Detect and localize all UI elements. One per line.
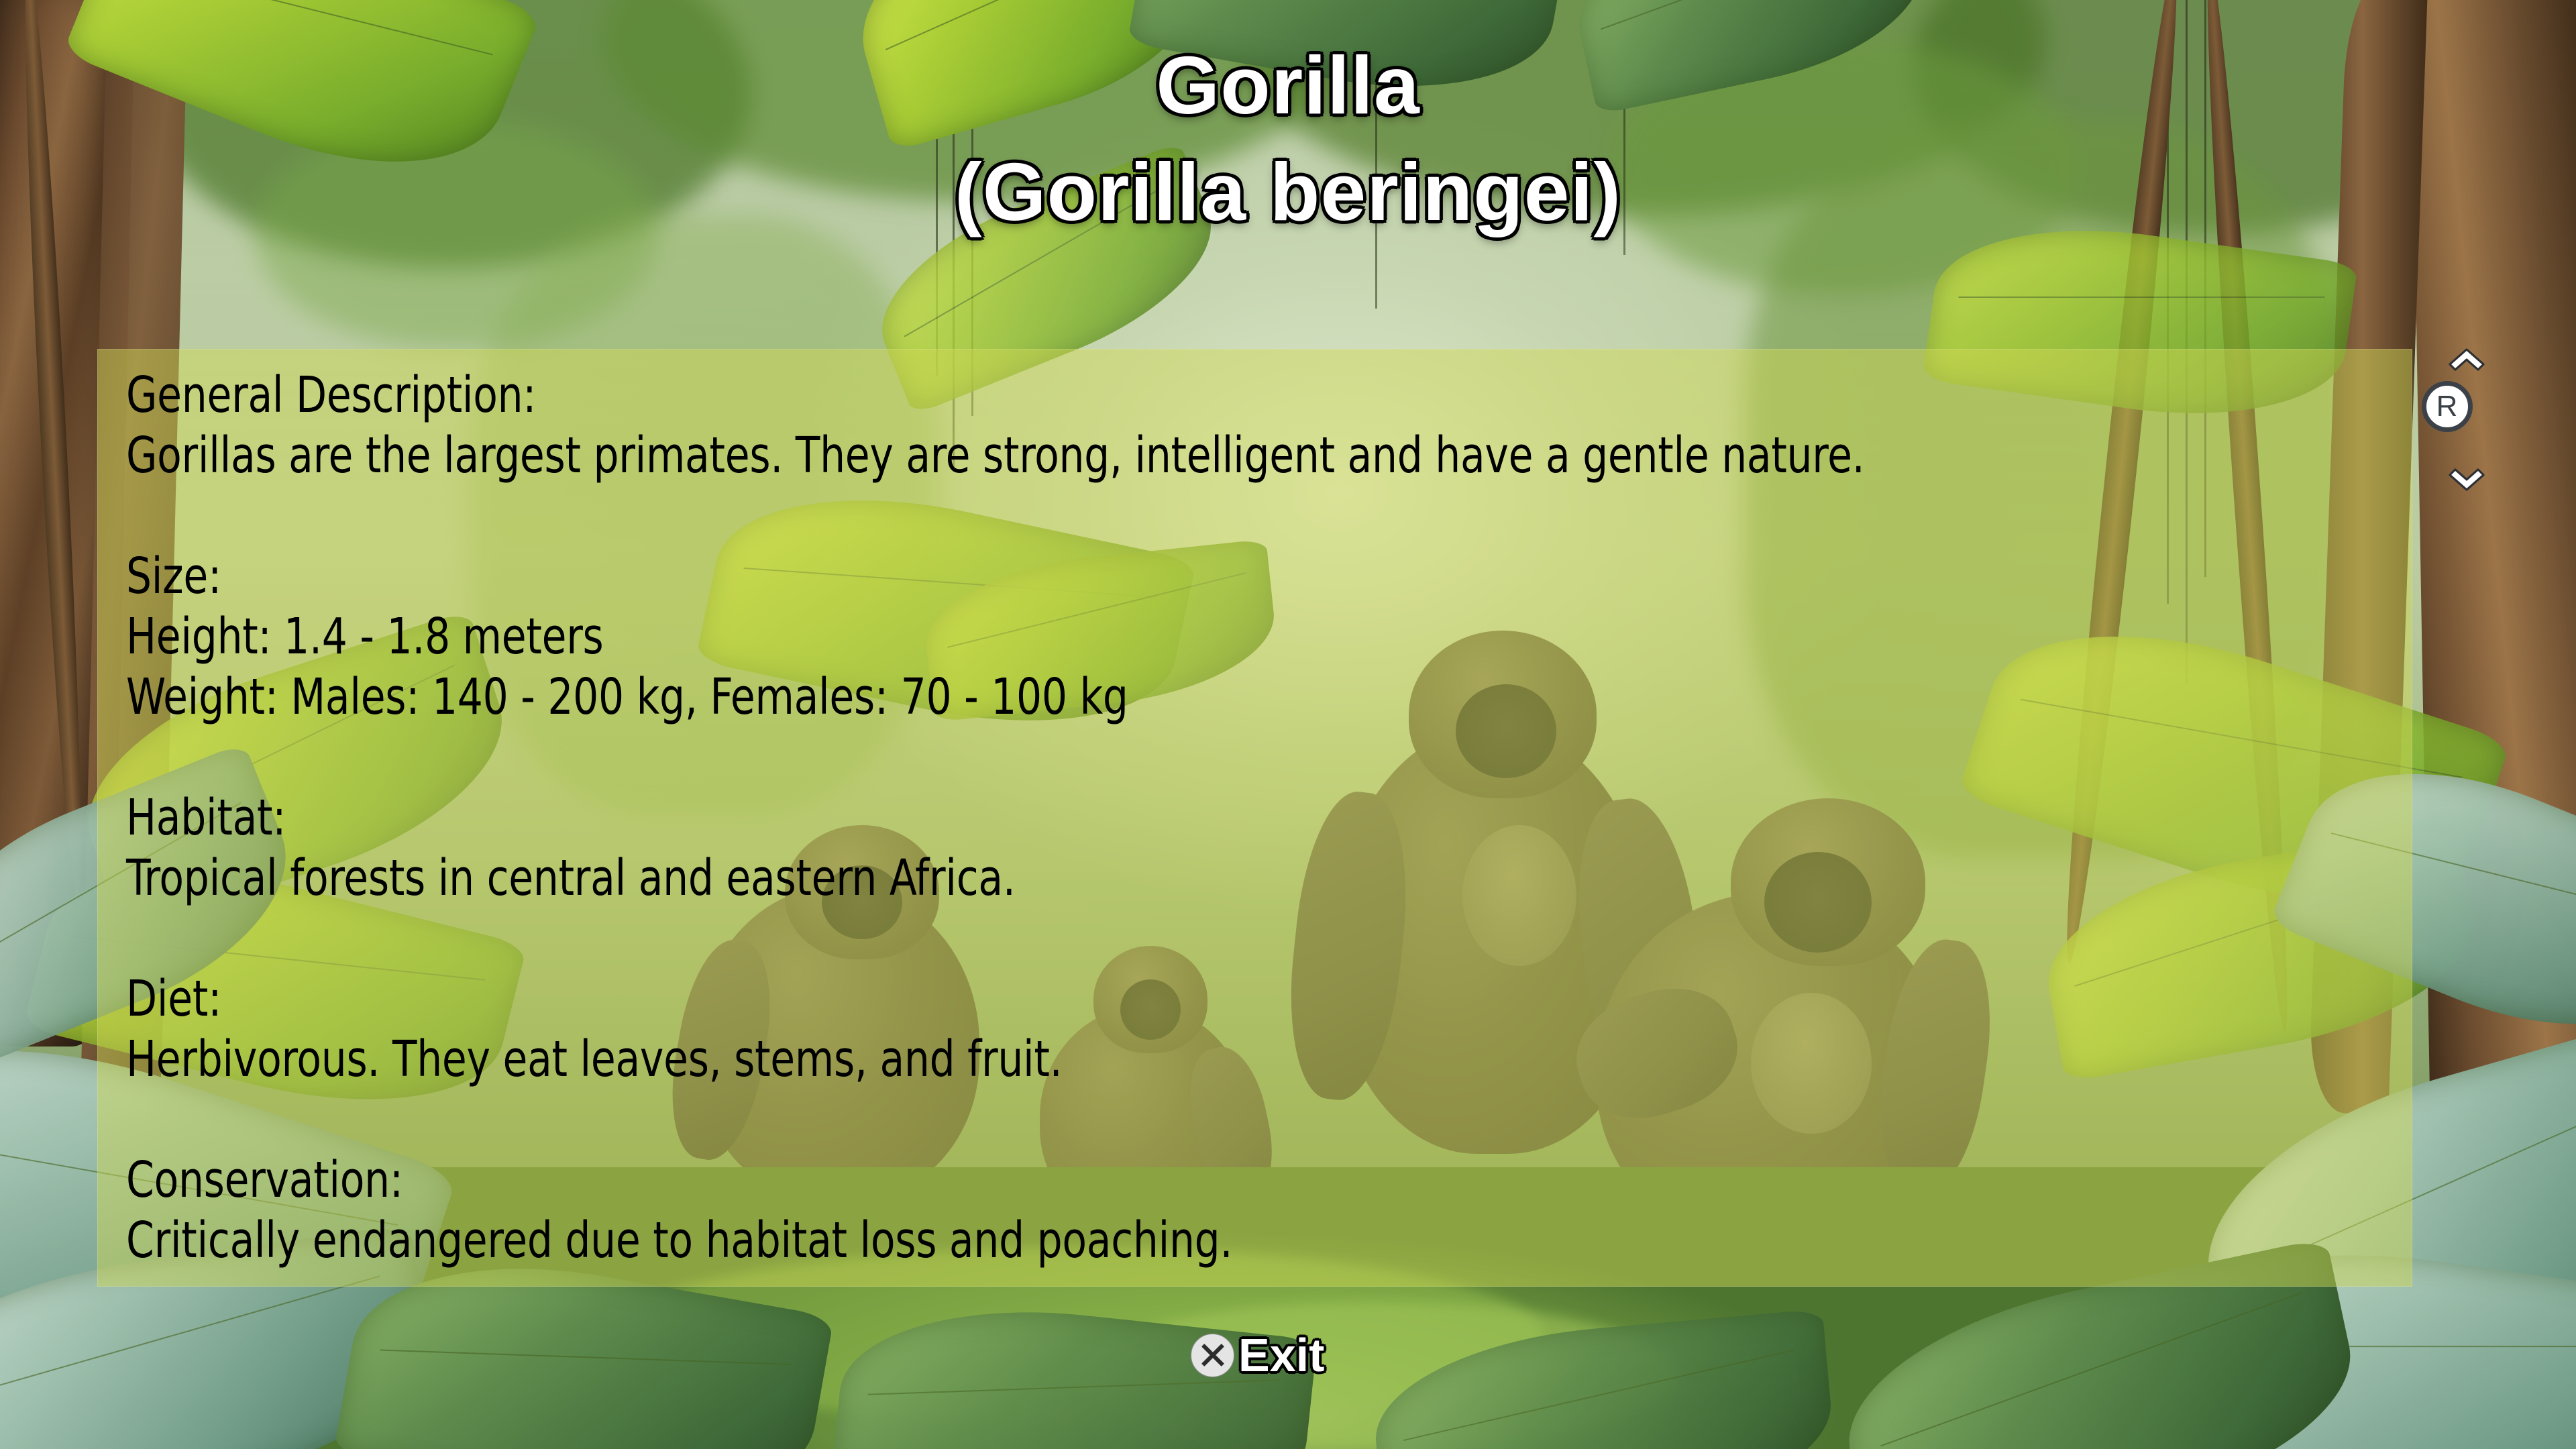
- scroll-knob-button[interactable]: R: [2422, 381, 2473, 432]
- scroll-knob-label: R: [2436, 392, 2458, 421]
- exit-button[interactable]: Exit: [1191, 1332, 1324, 1379]
- close-x-icon[interactable]: [1191, 1334, 1234, 1377]
- scroll-control[interactable]: R: [2418, 344, 2475, 468]
- info-panel-body-text: General Description: Gorillas are the la…: [126, 365, 2171, 1271]
- exit-button-label: Exit: [1238, 1332, 1324, 1379]
- app-screen: Gorilla (Gorilla beringei) General Descr…: [0, 0, 2576, 1449]
- info-panel: General Description: Gorillas are the la…: [97, 349, 2412, 1287]
